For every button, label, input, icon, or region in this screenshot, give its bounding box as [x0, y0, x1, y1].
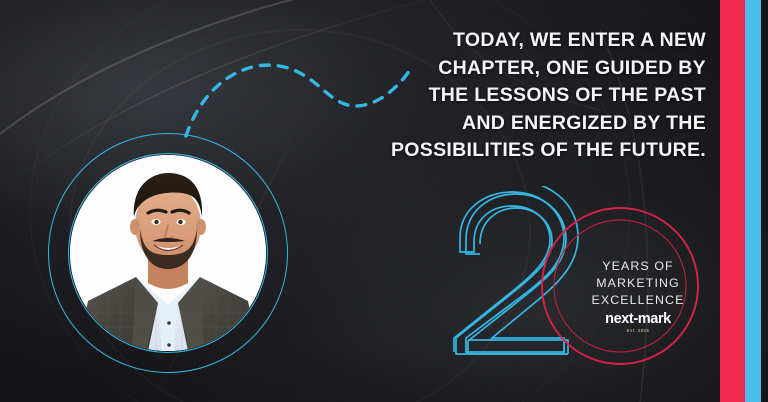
headline-line-2: CHAPTER, ONE GUIDED BY [276, 55, 706, 83]
badge-tagline-line-3: EXCELLENCE [582, 292, 694, 309]
portrait-photo [70, 155, 266, 351]
accent-bar-red [720, 0, 745, 402]
headline-line-3: THE LESSONS OF THE PAST [276, 82, 706, 110]
logo-established: Est. 2005 [582, 328, 694, 334]
portrait-medallion [48, 133, 288, 373]
logo-wordmark: next-mark [582, 312, 694, 327]
numeral-two-outline [454, 186, 578, 352]
accent-bar-cyan [745, 0, 761, 402]
next-mark-logo: next-mark Est. 2005 [582, 312, 694, 334]
headline-line-5: POSSIBILITIES OF THE FUTURE. [276, 137, 706, 165]
numeral-two-strokes [456, 194, 568, 354]
badge-tagline: YEARS OF MARKETING EXCELLENCE [582, 258, 694, 309]
page-title: TODAY, WE ENTER A NEW CHAPTER, ONE GUIDE… [276, 27, 706, 165]
badge-tagline-line-1: YEARS OF [582, 258, 694, 275]
promo-graphic: TODAY, WE ENTER A NEW CHAPTER, ONE GUIDE… [0, 0, 768, 402]
headline-line-4: AND ENERGIZED BY THE [276, 110, 706, 138]
headline-line-1: TODAY, WE ENTER A NEW [276, 27, 706, 55]
anniversary-badge: YEARS OF MARKETING EXCELLENCE next-mark … [452, 186, 700, 386]
badge-tagline-line-2: MARKETING [582, 275, 694, 292]
